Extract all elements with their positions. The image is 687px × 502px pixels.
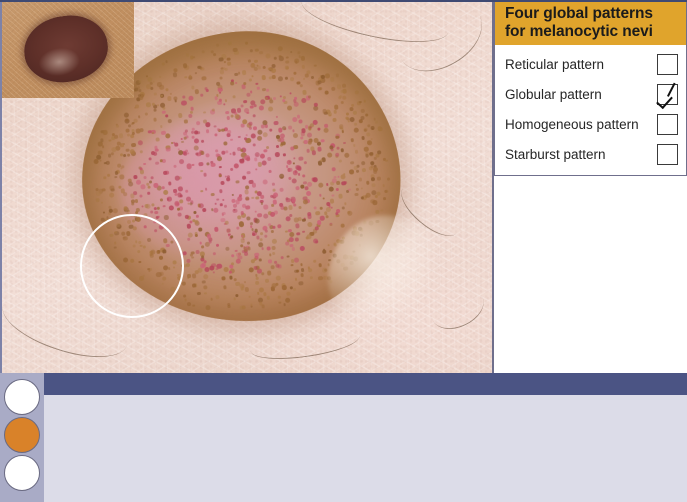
right-panel: Four global patterns for melanocytic nev…	[492, 0, 687, 373]
pattern-checklist: Reticular patternGlobular patternHomogen…	[495, 45, 686, 175]
dot-middle[interactable]	[4, 417, 40, 453]
bottom-content-area	[44, 395, 687, 502]
card-header: Four global patterns for melanocytic nev…	[495, 1, 686, 45]
clinical-photo-inset	[0, 0, 134, 98]
checklist-row-0[interactable]: Reticular pattern	[495, 49, 686, 79]
app-root: Four global patterns for melanocytic nev…	[0, 0, 687, 502]
dot-top[interactable]	[4, 379, 40, 415]
checklist-label: Globular pattern	[505, 87, 602, 102]
dermoscopy-image	[0, 0, 492, 373]
checkbox-icon[interactable]	[657, 144, 678, 165]
checklist-label: Homogeneous pattern	[505, 117, 639, 132]
checkbox-checked-icon[interactable]	[657, 84, 678, 105]
checklist-label: Reticular pattern	[505, 57, 604, 72]
top-border-rule	[0, 0, 687, 2]
checkbox-icon[interactable]	[657, 114, 678, 135]
checklist-row-3[interactable]: Starburst pattern	[495, 139, 686, 169]
bottom-left-strip	[0, 373, 44, 502]
card-title-line-1: Four global patterns	[505, 5, 678, 23]
bottom-panel	[0, 373, 687, 502]
dot-bottom[interactable]	[4, 455, 40, 491]
bottom-title-bar	[44, 373, 687, 395]
checklist-row-2[interactable]: Homogeneous pattern	[495, 109, 686, 139]
checklist-row-1[interactable]: Globular pattern	[495, 79, 686, 109]
card-title-line-2: for melanocytic nevi	[505, 23, 678, 41]
global-patterns-card: Four global patterns for melanocytic nev…	[494, 0, 687, 176]
checklist-label: Starburst pattern	[505, 147, 606, 162]
left-border-rule	[0, 0, 2, 373]
annotation-circle	[80, 214, 184, 318]
checkbox-icon[interactable]	[657, 54, 678, 75]
